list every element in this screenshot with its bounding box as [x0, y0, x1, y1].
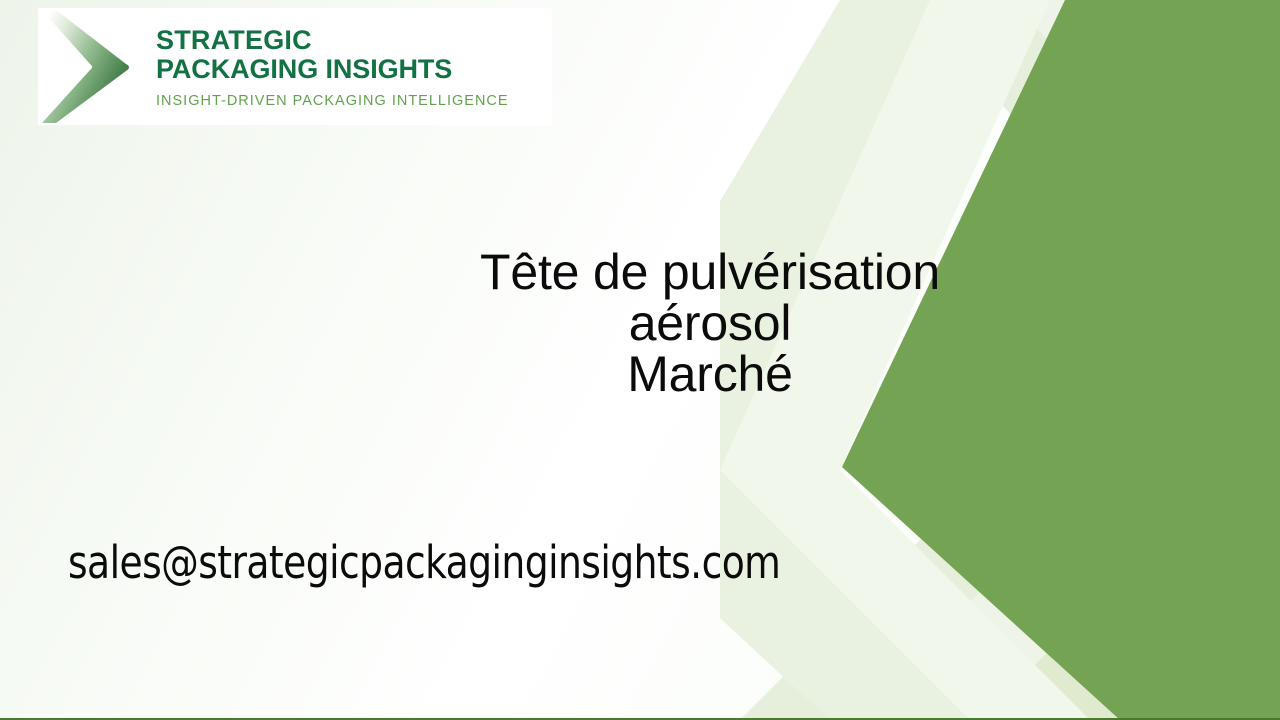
title-line-2: aérosol — [330, 298, 1090, 349]
brand-line-1: STRATEGIC — [156, 26, 552, 55]
title-line-1: Tête de pulvérisation — [330, 247, 1090, 298]
title-line-3: Marché — [330, 349, 1090, 400]
contact-email[interactable]: sales@strategicpackaginginsights.com — [68, 536, 780, 589]
brand-tagline: INSIGHT-DRIVEN PACKAGING INTELLIGENCE — [156, 93, 552, 109]
brand-wordmark: STRATEGIC PACKAGING INSIGHTS INSIGHT-DRI… — [134, 24, 552, 109]
brand-logo: STRATEGIC PACKAGING INSIGHTS INSIGHT-DRI… — [38, 8, 552, 125]
title-slide: STRATEGIC PACKAGING INSIGHTS INSIGHT-DRI… — [0, 0, 1280, 720]
brand-line-2: PACKAGING INSIGHTS — [156, 55, 552, 84]
page-title: Tête de pulvérisation aérosol Marché — [330, 247, 1090, 400]
chevron-arrow-icon — [38, 8, 134, 125]
